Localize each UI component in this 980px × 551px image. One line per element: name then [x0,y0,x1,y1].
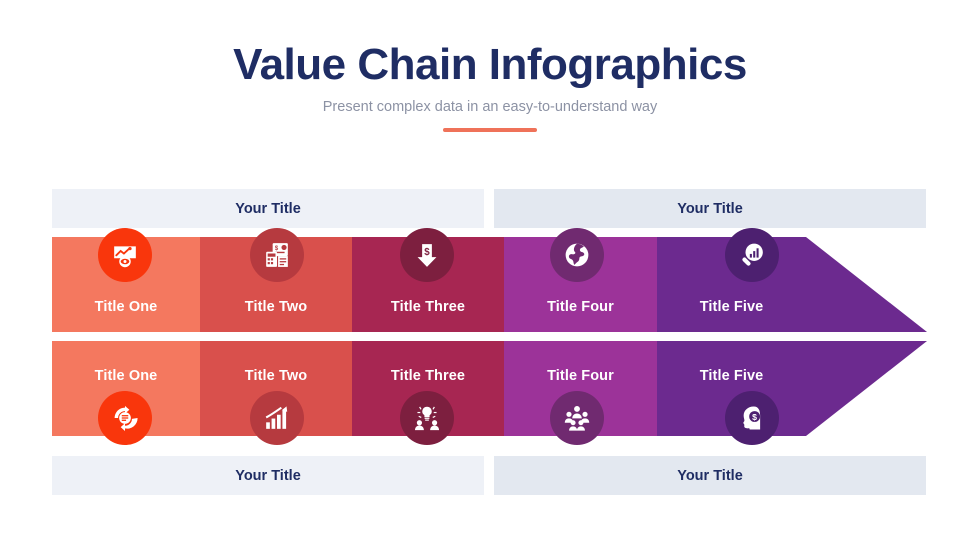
segment-label: Title One [52,299,200,315]
segment-label: Title Four [504,368,657,384]
band-header-bottom-left: Your Title [52,456,484,495]
segment-label: Title One [52,368,200,384]
segment-label: Title Three [352,299,504,315]
growth-chart-icon [250,391,304,445]
svg-text:$: $ [424,247,430,258]
page-title: Value Chain Infographics [0,40,980,90]
globe-icon [550,228,604,282]
support-activities-row: Title OneTitle TwoTitle ThreeTitle FourT… [52,341,927,436]
title-underline-divider [443,128,537,132]
group-people-icon [550,391,604,445]
band-header-top-right: Your Title [494,189,926,228]
invoice-icon: $ [250,228,304,282]
segment-label: Title Five [657,299,806,315]
segment-label: Title Two [200,299,352,315]
chevron-arrow-tip [806,237,927,332]
page-subtitle: Present complex data in an easy-to-under… [0,99,980,115]
segment-label: Title Three [352,368,504,384]
band-header-top-left: Your Title [52,189,484,228]
chevron-arrow-tip [806,341,927,436]
segment-label: Title Five [657,368,806,384]
segment-label: Title Two [200,368,352,384]
head-money-icon: $ [725,391,779,445]
process-cycle-icon [98,391,152,445]
chart-eye-icon [98,228,152,282]
research-icon [725,228,779,282]
segment-label: Title Four [504,299,657,315]
cost-down-icon: $ [400,228,454,282]
svg-text:$: $ [752,412,757,422]
team-idea-icon [400,391,454,445]
band-header-bottom-right: Your Title [494,456,926,495]
primary-activities-row: Title OneTitle Two$Title Three$Title Fou… [52,237,927,332]
